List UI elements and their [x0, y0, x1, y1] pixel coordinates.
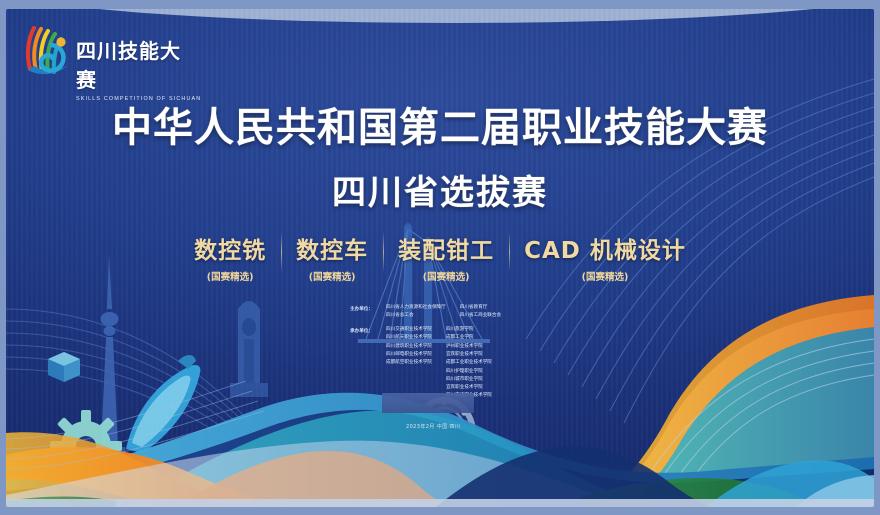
category-name: 装配钳工: [398, 231, 494, 265]
rainbow-feather-mark: [20, 21, 78, 79]
organiser-entry: 四川旅游学院: [446, 327, 492, 334]
undertaker-label: 承办单位：: [350, 327, 380, 400]
organiser-entry: 四川邮电职业技术学院: [386, 352, 432, 359]
cube-icon: [48, 352, 80, 382]
logo-cn-text: 四川技能大赛: [76, 35, 201, 93]
organiser-entry: 四川省总工会: [386, 313, 446, 320]
organiser-entry: 四川省人力资源和社会保障厅: [386, 305, 446, 312]
category-item: 装配钳工 (国赛精选): [383, 231, 509, 283]
title-block: 中华人民共和国第二届职业技能大赛 四川省选拔赛: [6, 95, 874, 214]
organiser-entry: 宜宾职业技术学院: [446, 352, 492, 359]
organiser-entry: 四川省工商业联合会: [460, 313, 501, 320]
organiser-entry: 四川省教育厅: [460, 305, 501, 312]
undertaker-col-2: 四川旅游学院 成都工业学院 泸州职业技术学院 宜宾职业技术学院 成都工业职业技术…: [446, 327, 492, 400]
category-name: 数控铣: [194, 231, 266, 265]
undertaker-col-1: 四川交通职业技术学院 四川航天职业技术学院 四川建筑职业技术学院 四川邮电职业技…: [386, 327, 432, 400]
banner-stage: 四川技能大赛 SKILLS COMPETITION OF SICHUAN 中华人…: [0, 0, 880, 515]
host-label: 主办单位：: [350, 305, 380, 320]
organiser-entry: 四川城市职业学院: [446, 377, 492, 384]
organiser-entry: 四川航天职业技术学院: [386, 335, 432, 342]
category-sub: (国赛精选): [296, 269, 368, 283]
organiser-block: 主办单位： 四川省人力资源和社会保障厅 四川省总工会 四川省教育厅 四川省工商业…: [350, 305, 580, 407]
host-col-1: 四川省人力资源和社会保障厅 四川省总工会: [386, 305, 446, 320]
host-col-2: 四川省教育厅 四川省工商业联合会: [460, 305, 501, 320]
organiser-entry: 成都工业学院: [446, 335, 492, 342]
undertaker-organiser-row: 承办单位： 四川交通职业技术学院 四川航天职业技术学院 四川建筑职业技术学院 四…: [350, 327, 580, 400]
organiser-entry: 成都航空职业技术学院: [386, 360, 432, 367]
rocket-icon: [110, 355, 200, 497]
redacted-area: [382, 393, 474, 413]
category-sub: (国赛精选): [524, 269, 686, 283]
category-list: 数控铣 (国赛精选) 数控车 (国赛精选) 装配钳工 (国赛精选) CAD 机械…: [6, 231, 874, 283]
organiser-entry: 宜宾职业技术学院: [446, 385, 492, 392]
category-item: 数控铣 (国赛精选): [179, 231, 281, 283]
organiser-entry: 四川建筑职业技术学院: [386, 344, 432, 351]
arch-building-icon: [230, 301, 268, 397]
category-item: 数控车 (国赛精选): [281, 231, 383, 283]
host-organiser-row: 主办单位： 四川省人力资源和社会保障厅 四川省总工会 四川省教育厅 四川省工商业…: [350, 305, 580, 320]
tv-tower-icon: [89, 253, 130, 479]
category-name: CAD 机械设计: [524, 231, 686, 265]
event-logo: 四川技能大赛 SKILLS COMPETITION OF SICHUAN: [20, 21, 190, 83]
main-title: 中华人民共和国第二届职业技能大赛: [6, 95, 874, 153]
hexagon-icon: [68, 440, 89, 458]
date-place-text: 2023年2月 中国·四川: [406, 423, 460, 430]
organiser-entry: 四川护理职业学院: [446, 369, 492, 376]
organiser-entry: 泸州职业技术学院: [446, 344, 492, 351]
arrow-glyph: [34, 461, 62, 483]
sub-title: 四川省选拔赛: [6, 165, 874, 214]
organiser-entry: 四川交通职业技术学院: [386, 327, 432, 334]
category-item: CAD 机械设计 (国赛精选): [509, 231, 701, 283]
category-sub: (国赛精选): [194, 269, 266, 283]
logo-en-text: SKILLS COMPETITION OF SICHUAN: [76, 96, 201, 102]
category-name: 数控车: [296, 231, 368, 265]
organiser-entry: 成都工业职业技术学院: [446, 360, 492, 367]
event-backdrop: 四川技能大赛 SKILLS COMPETITION OF SICHUAN 中华人…: [6, 9, 874, 507]
gear-icon: [50, 410, 122, 482]
category-sub: (国赛精选): [398, 269, 494, 283]
